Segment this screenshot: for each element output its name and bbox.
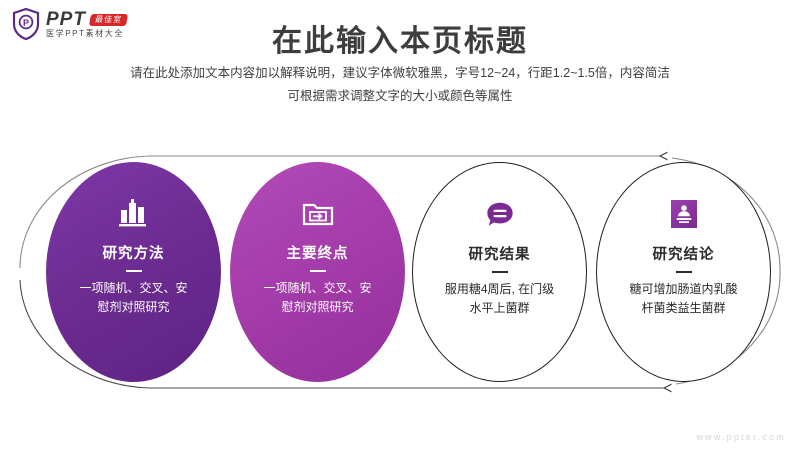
podium-person-icon [671, 193, 697, 235]
node-research-conclusion[interactable]: 研究结论 糖可增加肠道内乳酸 杆菌类益生菌群 [596, 162, 771, 382]
site-watermark: www.ppter.com [696, 432, 786, 442]
node-desc-line: 慰剂对照研究 [58, 298, 210, 317]
subtitle-line-1: 请在此处添加文本内容加以解释说明，建议字体微软雅黑，字号12~24，行距1.2~… [0, 62, 800, 85]
subtitle-line-2: 可根据需求调整文字的大小或颜色等属性 [0, 85, 800, 108]
node-desc-line: 杆菌类益生菌群 [608, 299, 760, 318]
process-cycle-diagram: 研究方法 一项随机、交叉、安 慰剂对照研究 主要终点 一项随机、交叉、安 慰剂对… [0, 140, 800, 405]
node-divider [492, 271, 508, 273]
node-title: 研究结论 [653, 243, 715, 264]
node-desc-line: 水平上菌群 [424, 299, 576, 318]
node-research-method[interactable]: 研究方法 一项随机、交叉、安 慰剂对照研究 [46, 162, 221, 382]
folder-arrow-icon [301, 192, 335, 234]
page-title: 在此输入本页标题 [0, 16, 800, 60]
node-desc-line: 服用糖4周后, 在门级 [424, 280, 576, 299]
page-subtitle: 请在此处添加文本内容加以解释说明，建议字体微软雅黑，字号12~24，行距1.2~… [0, 62, 800, 108]
bar-chart-icon [117, 192, 151, 234]
node-desc-line: 一项随机、交叉、安 [58, 279, 210, 298]
node-description: 服用糖4周后, 在门级 水平上菌群 [424, 280, 576, 317]
node-description: 一项随机、交叉、安 慰剂对照研究 [58, 279, 210, 316]
node-divider [310, 270, 326, 272]
node-desc-line: 糖可增加肠道内乳酸 [608, 280, 760, 299]
node-research-result[interactable]: 研究结果 服用糖4周后, 在门级 水平上菌群 [412, 162, 587, 382]
node-desc-line: 慰剂对照研究 [242, 298, 394, 317]
node-description: 一项随机、交叉、安 慰剂对照研究 [242, 279, 394, 316]
speech-bubble-icon [485, 193, 515, 235]
node-description: 糖可增加肠道内乳酸 杆菌类益生菌群 [608, 280, 760, 317]
node-divider [126, 270, 142, 272]
node-title: 研究结果 [469, 243, 531, 264]
node-title: 主要终点 [287, 242, 349, 263]
node-title: 研究方法 [103, 242, 165, 263]
node-primary-endpoint[interactable]: 主要终点 一项随机、交叉、安 慰剂对照研究 [230, 162, 405, 382]
node-divider [676, 271, 692, 273]
node-desc-line: 一项随机、交叉、安 [242, 279, 394, 298]
